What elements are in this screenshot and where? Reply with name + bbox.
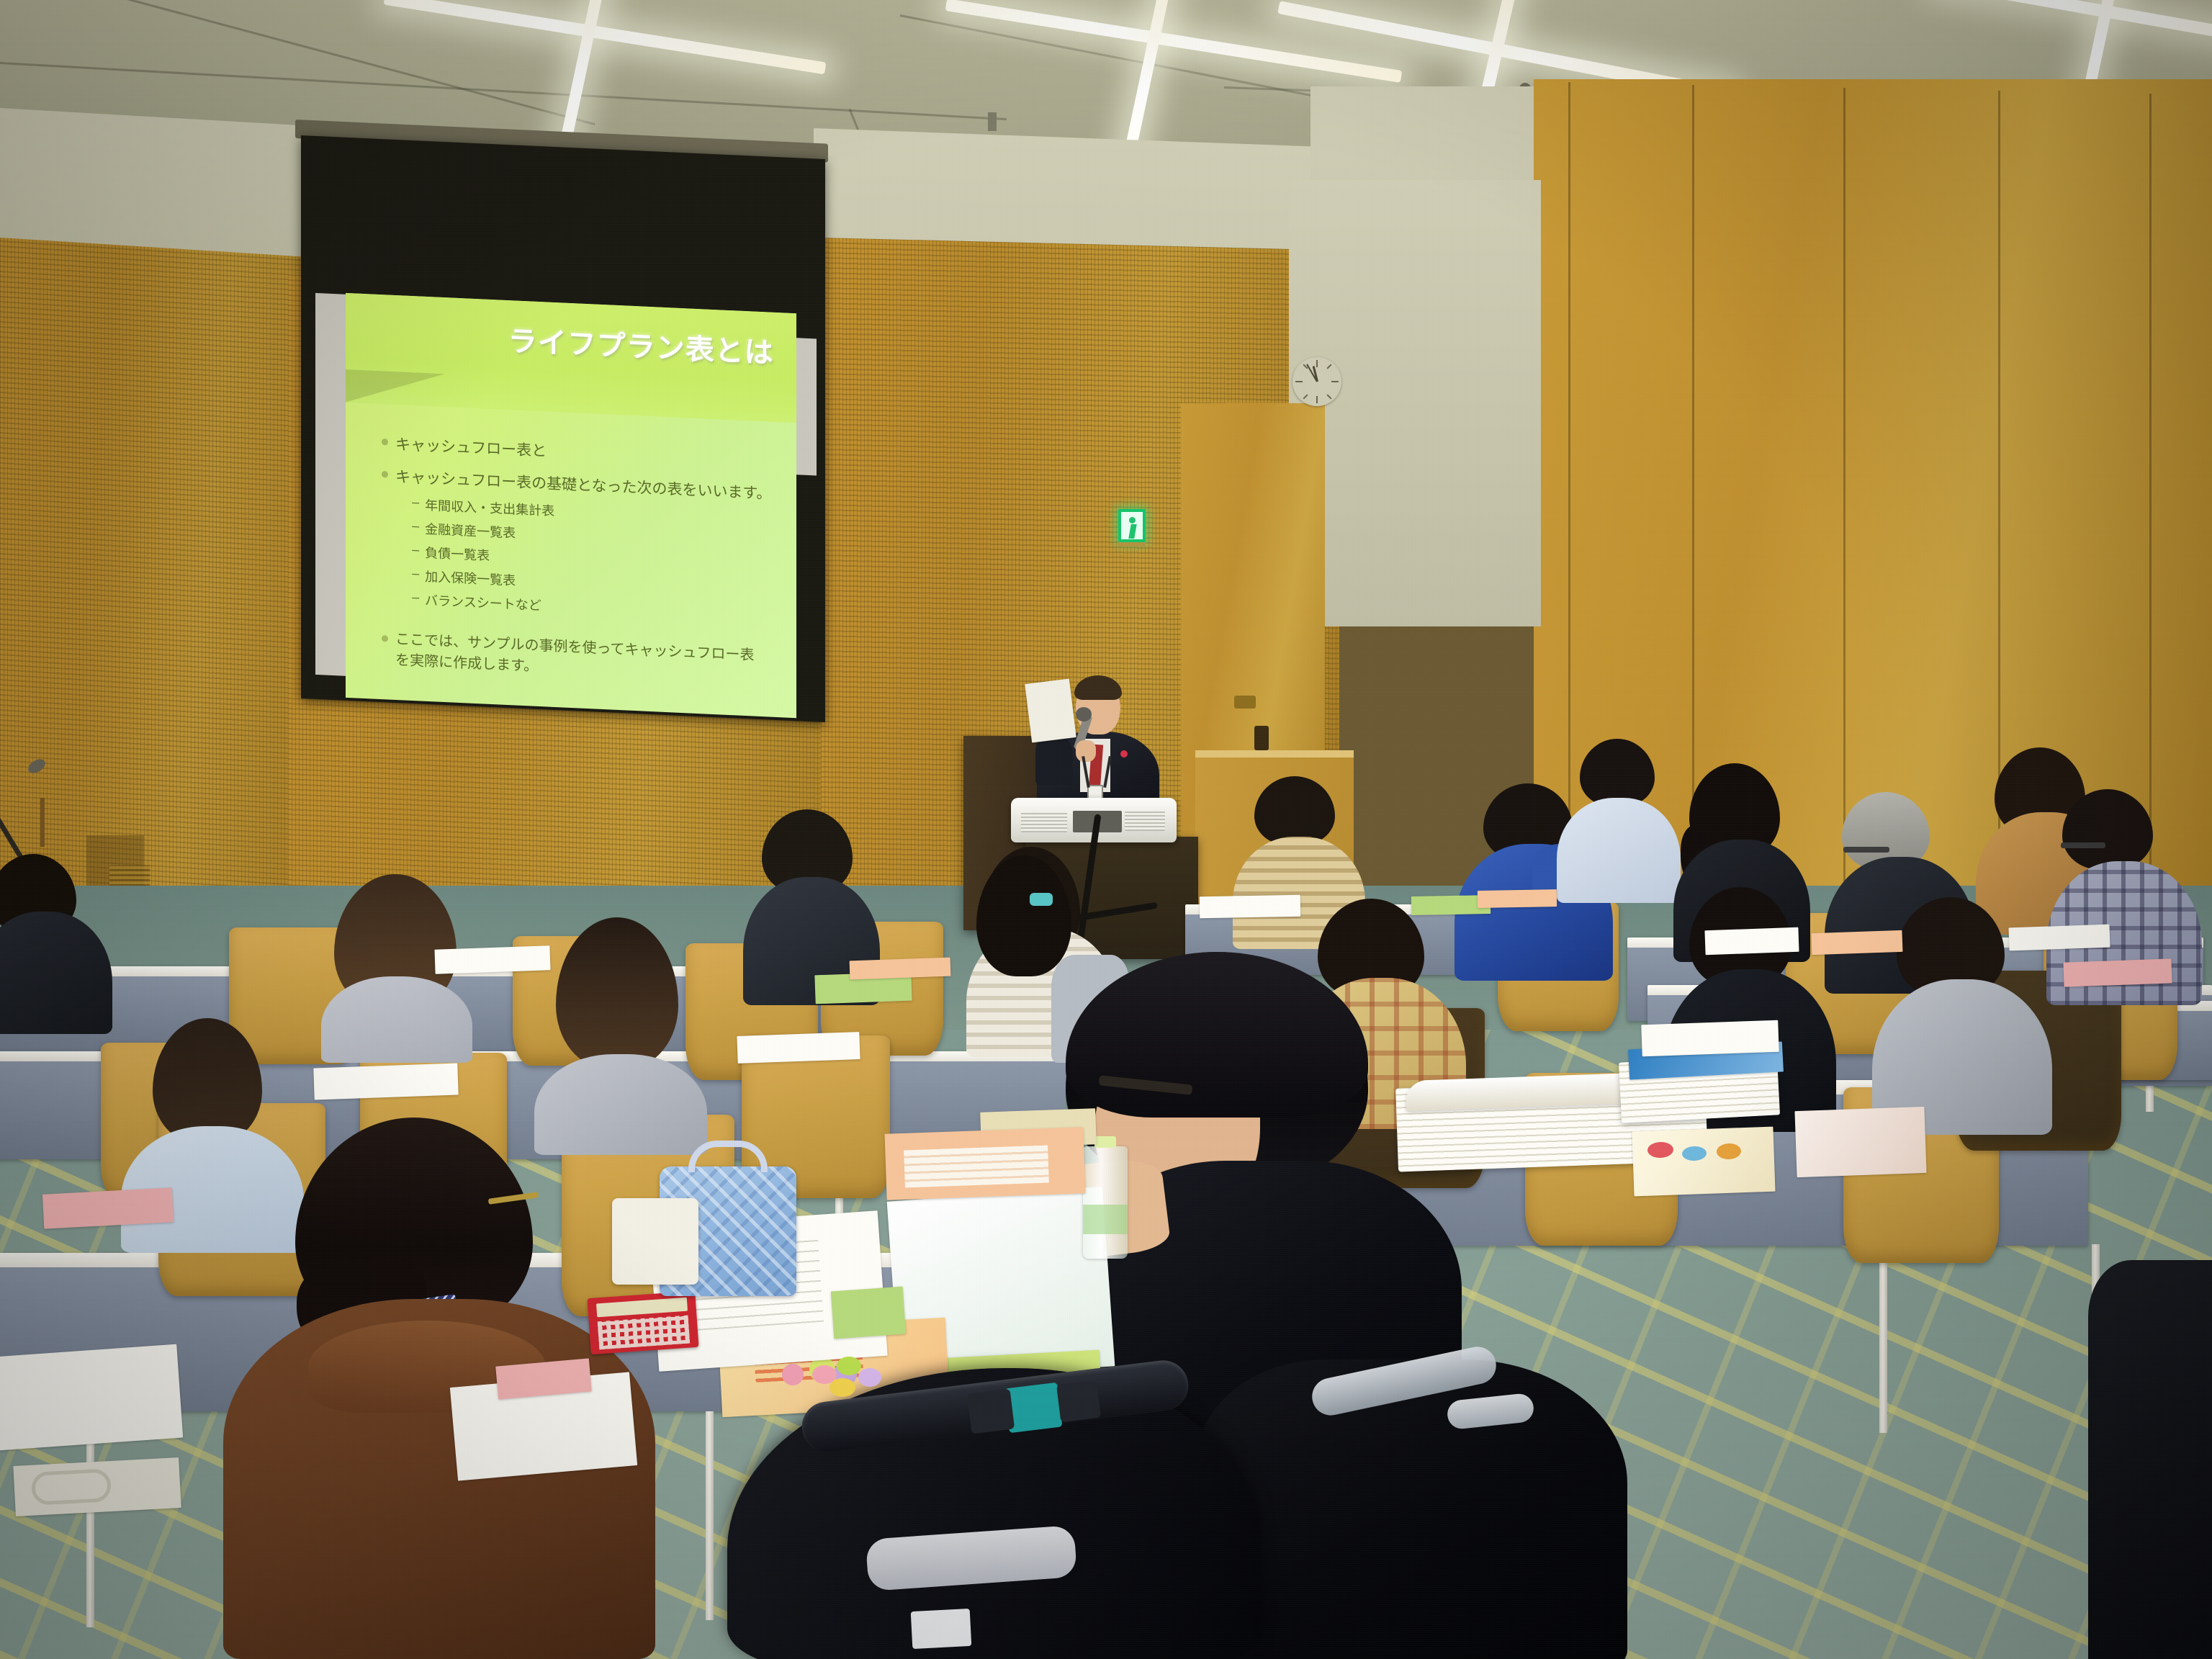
calculator-display	[596, 1297, 688, 1316]
wall-socket	[1254, 726, 1269, 750]
wall-clock	[1292, 357, 1341, 406]
projection-screen: ライフプラン表とは キャッシュフロー表と キャッシュフロー表の基礎となった次の表…	[288, 115, 828, 713]
bullet-dot-icon	[382, 439, 388, 445]
slide-subbullet-text: 金融資産一覧表	[425, 519, 516, 542]
small-item	[837, 1357, 861, 1375]
slide-body: キャッシュフロー表と キャッシュフロー表の基礎となった次の表をいいます。 – 年…	[382, 432, 783, 688]
screen-side-band	[315, 293, 349, 676]
slide-subbullet-text: バランスシートなど	[425, 590, 541, 614]
exit-sign-icon	[1118, 509, 1146, 542]
exit-sign-mount	[1118, 542, 1146, 547]
attendee-hair	[1580, 739, 1655, 806]
presenter-hair	[1074, 675, 1122, 700]
slide-bullet: ここでは、サンプルの事例を使ってキャッシュフロー表を実際に作成します。	[382, 629, 756, 688]
paper-sheet	[2063, 958, 2172, 986]
stroller-tag	[911, 1609, 972, 1649]
stroller-clamp	[1056, 1380, 1101, 1422]
attendee-torso	[2088, 1260, 2212, 1659]
paper-sheet	[1641, 1020, 1779, 1057]
screen-side-band	[795, 338, 817, 475]
dash-icon: –	[412, 495, 419, 510]
attendee	[1557, 739, 1681, 903]
slide-subbullet-text: 年間収入・支出集計表	[425, 495, 554, 520]
attendee	[0, 854, 112, 1034]
paper-sheet	[2008, 925, 2110, 951]
dash-icon: –	[412, 590, 419, 605]
attendee-foreground-right	[2088, 1260, 2212, 1659]
attendee-hair	[556, 917, 678, 1069]
paper-sheet	[737, 1032, 860, 1064]
slide-bullet-text: ここでは、サンプルの事例を使ってキャッシュフロー表を実際に作成します。	[395, 629, 756, 688]
coat-on-chair	[1195, 1359, 1627, 1659]
notebook-tab	[831, 1287, 906, 1339]
seminar-room-photo: ライフプラン表とは キャッシュフロー表と キャッシュフロー表の基礎となった次の表…	[0, 0, 2212, 1659]
dash-icon: –	[412, 542, 419, 557]
paper-sheet	[434, 945, 550, 974]
paper-sheet	[0, 1344, 183, 1452]
paper-sheet	[1704, 927, 1799, 956]
paper-sheet	[1478, 889, 1557, 908]
handout-document	[1025, 679, 1076, 743]
paper-sheet	[42, 1187, 174, 1228]
attendee-hair	[2062, 789, 2153, 870]
bottle-cap	[1094, 1136, 1116, 1148]
attendee-hair	[1254, 776, 1335, 845]
screen-surface: ライフプラン表とは キャッシュフロー表と キャッシュフロー表の基礎となった次の表…	[301, 135, 825, 722]
paper-sheet	[850, 958, 951, 980]
attendee-hair-front	[1066, 952, 1368, 1118]
slide-bullet-text: キャッシュフロー表と	[395, 433, 547, 462]
small-item	[858, 1368, 881, 1387]
slide-subbullet-text: 加入保険一覧表	[425, 567, 516, 590]
small-item	[829, 1378, 855, 1397]
attendee-torso	[321, 976, 472, 1063]
paper-sheet	[313, 1064, 458, 1100]
file-holder	[612, 1198, 698, 1285]
booklet-graphic-icon	[782, 1364, 804, 1385]
calculator-keys[interactable]	[598, 1315, 690, 1349]
glasses-icon	[1843, 847, 1889, 853]
paper-text-lines	[904, 1146, 1049, 1188]
calculator[interactable]	[587, 1291, 698, 1354]
attendee-torso	[1557, 798, 1681, 903]
presenter-hand	[1076, 740, 1096, 762]
wall-outlet	[1234, 696, 1256, 709]
paper-sheet	[1812, 930, 1903, 955]
bottle-label	[1083, 1205, 1128, 1234]
seminar-booklet	[1794, 1107, 1926, 1177]
slide-bullet: キャッシュフロー表と	[382, 432, 783, 472]
ceiling-fitting	[988, 112, 997, 131]
glasses-icon	[2061, 842, 2105, 848]
dash-icon: –	[412, 566, 419, 581]
seminar-booklet	[1632, 1127, 1775, 1197]
presenter-arm	[1035, 734, 1073, 785]
attendee-torso	[0, 912, 112, 1034]
bag-handle	[31, 1468, 112, 1506]
lectern-top-edge	[1195, 750, 1354, 757]
water-bottle	[1083, 1146, 1128, 1259]
bullet-dot-icon	[382, 471, 388, 477]
projected-slide: ライフプラン表とは キャッシュフロー表と キャッシュフロー表の基礎となった次の表…	[346, 293, 796, 718]
microphone-head-icon	[1076, 707, 1092, 721]
hair-clip-icon	[1030, 893, 1053, 906]
lapel-pin-icon	[1120, 750, 1128, 757]
wood-wall-left	[0, 238, 331, 928]
bullet-dot-icon	[382, 635, 388, 642]
paper-sheet	[1200, 895, 1301, 918]
slide-subbullet-text: 負債一覧表	[425, 543, 490, 565]
stroller-clamp	[967, 1389, 1015, 1434]
dash-icon: –	[412, 518, 419, 534]
